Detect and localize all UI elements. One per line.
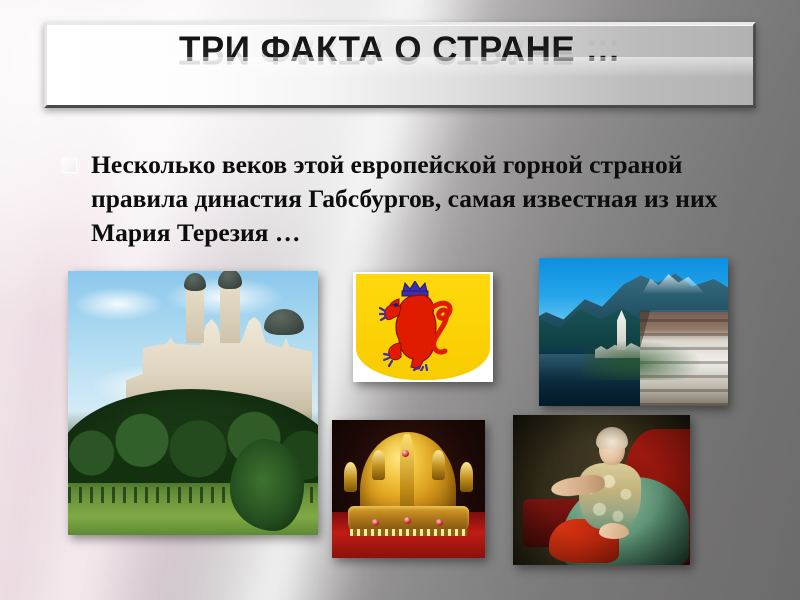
presentation-slide: ТРИ ФАКТА О СТРАНЕ … ТРИ ФАКТА О СТРАНЕ … <box>0 0 800 600</box>
page-title-reflection: ТРИ ФАКТА О СТРАНЕ … <box>179 34 621 69</box>
maria-theresa-portrait <box>513 415 690 565</box>
portrait-vignette <box>513 415 690 565</box>
crown-jewel <box>372 519 379 526</box>
crown-band-pearls <box>350 529 467 536</box>
square-bullet-icon <box>62 158 77 173</box>
melk-tower-dome <box>218 271 242 289</box>
crown-jewel <box>404 517 411 524</box>
title-stack: ТРИ ФАКТА О СТРАНЕ … ТРИ ФАКТА О СТРАНЕ … <box>179 32 621 104</box>
melk-cloud <box>72 287 164 321</box>
red-lion-icon <box>379 281 455 371</box>
hallstatt-greenery <box>583 340 703 380</box>
bullet-list-item: Несколько веков этой европейской горной … <box>62 148 762 250</box>
crown-finial <box>460 462 473 492</box>
crown-finial <box>344 462 357 492</box>
slide-title-plaque: ТРИ ФАКТА О СТРАНЕ … ТРИ ФАКТА О СТРАНЕ … <box>44 22 756 108</box>
hallstatt-photo <box>539 258 728 406</box>
crown-finial <box>372 450 385 480</box>
crown-jewel <box>436 519 443 526</box>
crown-jewel <box>402 450 409 457</box>
imperial-crown-photo <box>332 420 485 558</box>
melk-abbey-photo <box>68 271 318 535</box>
melk-tower-dome <box>184 273 206 291</box>
title-inner: ТРИ ФАКТА О СТРАНЕ … ТРИ ФАКТА О СТРАНЕ … <box>47 25 753 105</box>
coat-of-arms-image <box>353 272 493 382</box>
melk-foreground-bush <box>230 439 304 531</box>
crown-finial <box>432 450 445 480</box>
body-text: Несколько веков этой европейской горной … <box>91 148 731 250</box>
